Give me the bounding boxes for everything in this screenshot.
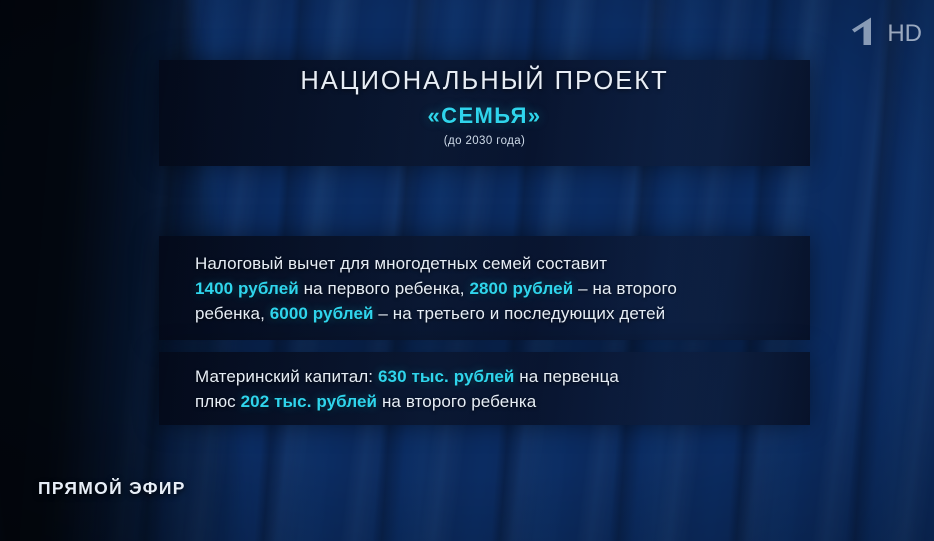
tax-deduction-panel: Налоговый вычет для многодетных семей со…	[159, 236, 810, 340]
title-panel: НАЦИОНАЛЬНЫЙ ПРОЕКТ «СЕМЬЯ» (до 2030 год…	[159, 60, 810, 166]
project-name: «СЕМЬЯ»	[159, 103, 810, 129]
text-run: плюс	[195, 392, 241, 411]
text-run: на первенца	[514, 367, 618, 386]
highlighted-amount: 630 тыс. рублей	[378, 367, 515, 386]
maternity-capital-panel: Материнский капитал: 630 тыс. рублей на …	[159, 352, 810, 425]
project-timeframe: (до 2030 года)	[159, 135, 810, 149]
text-line: плюс 202 тыс. рублей на второго ребенка	[195, 389, 780, 414]
highlighted-amount: 202 тыс. рублей	[241, 392, 378, 411]
highlighted-amount: 1400 рублей	[195, 279, 299, 298]
text-line: ребенка, 6000 рублей – на третьего и пос…	[195, 301, 780, 326]
channel-one-icon	[848, 14, 882, 53]
highlighted-amount: 2800 рублей	[469, 279, 573, 298]
text-line: Материнский капитал: 630 тыс. рублей на …	[195, 364, 780, 389]
text-line: 1400 рублей на первого ребенка, 2800 руб…	[195, 276, 780, 301]
text-run: на первого ребенка,	[299, 279, 470, 298]
highlighted-amount: 6000 рублей	[270, 304, 374, 323]
hd-label: HD	[887, 22, 922, 46]
live-badge: ПРЯМОЙ ЭФИР	[38, 478, 186, 499]
text-run: Материнский капитал:	[195, 367, 378, 386]
text-run: – на третьего и последующих детей	[374, 304, 666, 323]
text-run: – на второго	[573, 279, 677, 298]
text-run: на второго ребенка	[377, 392, 536, 411]
text-run: ребенка,	[195, 304, 270, 323]
text-run: Налоговый вычет для многодетных семей со…	[195, 254, 607, 273]
channel-logo: HD	[848, 14, 922, 53]
project-heading: НАЦИОНАЛЬНЫЙ ПРОЕКТ	[159, 66, 810, 98]
broadcast-screen: НАЦИОНАЛЬНЫЙ ПРОЕКТ «СЕМЬЯ» (до 2030 год…	[0, 0, 934, 541]
tax-deduction-text: Налоговый вычет для многодетных семей со…	[159, 236, 810, 340]
text-line: Налоговый вычет для многодетных семей со…	[195, 251, 780, 276]
maternity-capital-text: Материнский капитал: 630 тыс. рублей на …	[159, 352, 810, 425]
